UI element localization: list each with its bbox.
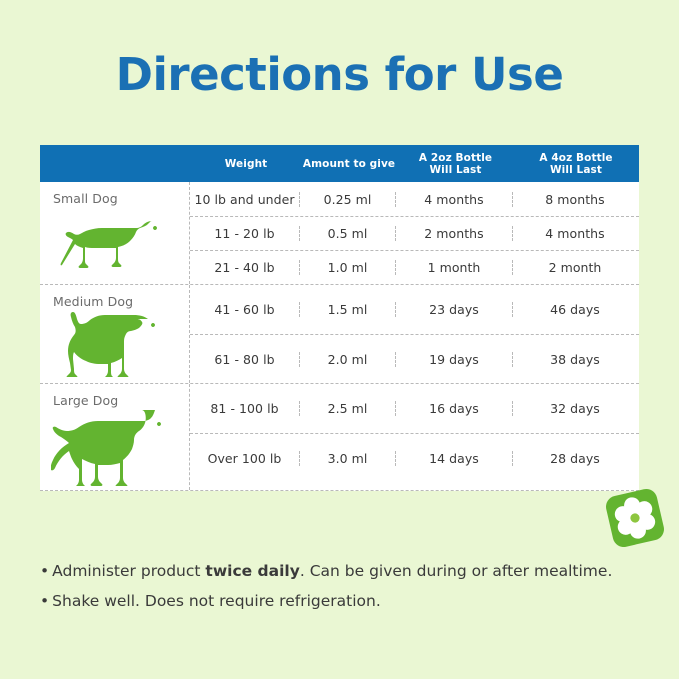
cell-2oz-duration: 2 months bbox=[396, 226, 513, 241]
cell-weight: 81 - 100 lb bbox=[190, 401, 300, 416]
cell-weight: 11 - 20 lb bbox=[190, 226, 300, 241]
note-1-text-part2: . Can be given during or after mealtime. bbox=[300, 562, 613, 580]
cell-4oz-duration: 2 month bbox=[513, 260, 637, 275]
table-group-small-dog: Small Dog 10 lb and under 0.25 ml 4 mont… bbox=[40, 182, 639, 284]
bullet-icon: • bbox=[40, 562, 49, 580]
beagle-silhouette-icon bbox=[40, 309, 189, 383]
dachshund-silhouette-icon bbox=[40, 206, 189, 284]
table-body: Small Dog 10 lb and under 0.25 ml 4 mont… bbox=[40, 182, 639, 491]
cell-2oz-duration: 1 month bbox=[396, 260, 513, 275]
cell-weight: 10 lb and under bbox=[190, 192, 300, 207]
cell-amount: 2.0 ml bbox=[300, 352, 396, 367]
flower-badge-logo bbox=[600, 483, 670, 553]
table-row: 81 - 100 lb 2.5 ml 16 days 32 days bbox=[190, 384, 639, 433]
table-row: 61 - 80 lb 2.0 ml 19 days 38 days bbox=[190, 334, 639, 383]
table-row: 11 - 20 lb 0.5 ml 2 months 4 months bbox=[190, 216, 639, 250]
table-header-4oz-line2: Will Last bbox=[514, 164, 638, 176]
group-breed-cell: Small Dog bbox=[40, 182, 190, 284]
group-rows-medium-dog: 41 - 60 lb 1.5 ml 23 days 46 days 61 - 8… bbox=[190, 285, 639, 383]
cell-weight: Over 100 lb bbox=[190, 451, 300, 466]
cell-4oz-duration: 46 days bbox=[513, 302, 637, 317]
cell-2oz-duration: 23 days bbox=[396, 302, 513, 317]
group-label-medium-dog: Medium Dog bbox=[40, 294, 189, 309]
table-row: 41 - 60 lb 1.5 ml 23 days 46 days bbox=[190, 285, 639, 334]
table-header-row: Weight Amount to give A 2oz Bottle Will … bbox=[40, 145, 639, 182]
directions-for-use-page: Directions for Use Weight Amount to give… bbox=[0, 0, 679, 679]
group-rows-large-dog: 81 - 100 lb 2.5 ml 16 days 32 days Over … bbox=[190, 384, 639, 490]
page-title: Directions for Use bbox=[0, 52, 679, 97]
cell-2oz-duration: 19 days bbox=[396, 352, 513, 367]
table-header-amount-to-give: Amount to give bbox=[301, 158, 397, 170]
group-label-small-dog: Small Dog bbox=[40, 191, 189, 206]
table-header-2oz-bottle: A 2oz Bottle Will Last bbox=[397, 152, 514, 176]
table-header-4oz-bottle: A 4oz Bottle Will Last bbox=[514, 152, 638, 176]
large-dog-silhouette-icon bbox=[40, 408, 189, 490]
cell-weight: 21 - 40 lb bbox=[190, 260, 300, 275]
cell-weight: 41 - 60 lb bbox=[190, 302, 300, 317]
group-rows-small-dog: 10 lb and under 0.25 ml 4 months 8 month… bbox=[190, 182, 639, 284]
flower-icon bbox=[604, 487, 666, 549]
cell-amount: 1.5 ml bbox=[300, 302, 396, 317]
cell-4oz-duration: 8 months bbox=[513, 192, 637, 207]
table-header-weight: Weight bbox=[191, 158, 301, 170]
cell-4oz-duration: 38 days bbox=[513, 352, 637, 367]
bullet-icon: • bbox=[40, 592, 49, 610]
table-header-2oz-line2: Will Last bbox=[397, 164, 514, 176]
note-item-2: •Shake well. Does not require refrigerat… bbox=[40, 586, 650, 616]
cell-weight: 61 - 80 lb bbox=[190, 352, 300, 367]
table-row: Over 100 lb 3.0 ml 14 days 28 days bbox=[190, 433, 639, 482]
note-2-text: Shake well. Does not require refrigerati… bbox=[52, 592, 381, 610]
note-1-text-part1: Administer product bbox=[52, 562, 205, 580]
cell-2oz-duration: 4 months bbox=[396, 192, 513, 207]
table-header-4oz-line1: A 4oz Bottle bbox=[514, 152, 638, 164]
table-bottom-border bbox=[40, 490, 639, 491]
table-group-large-dog: Large Dog 81 - 100 lb 2.5 ml 16 days 32 … bbox=[40, 383, 639, 490]
cell-4oz-duration: 4 months bbox=[513, 226, 637, 241]
dosage-table: Weight Amount to give A 2oz Bottle Will … bbox=[40, 145, 639, 491]
table-row: 21 - 40 lb 1.0 ml 1 month 2 month bbox=[190, 250, 639, 284]
note-1-emphasis: twice daily bbox=[205, 562, 299, 580]
cell-amount: 0.25 ml bbox=[300, 192, 396, 207]
table-header-2oz-line1: A 2oz Bottle bbox=[397, 152, 514, 164]
cell-4oz-duration: 32 days bbox=[513, 401, 637, 416]
cell-amount: 2.5 ml bbox=[300, 401, 396, 416]
cell-2oz-duration: 14 days bbox=[396, 451, 513, 466]
cell-amount: 3.0 ml bbox=[300, 451, 396, 466]
cell-2oz-duration: 16 days bbox=[396, 401, 513, 416]
table-row: 10 lb and under 0.25 ml 4 months 8 month… bbox=[190, 182, 639, 216]
table-group-medium-dog: Medium Dog 41 - 60 lb 1.5 ml 23 days 46 … bbox=[40, 284, 639, 383]
group-breed-cell: Large Dog bbox=[40, 384, 190, 490]
cell-4oz-duration: 28 days bbox=[513, 451, 637, 466]
notes-list: •Administer product twice daily. Can be … bbox=[40, 556, 650, 616]
group-label-large-dog: Large Dog bbox=[40, 393, 189, 408]
cell-amount: 1.0 ml bbox=[300, 260, 396, 275]
cell-amount: 0.5 ml bbox=[300, 226, 396, 241]
group-breed-cell: Medium Dog bbox=[40, 285, 190, 383]
note-item-1: •Administer product twice daily. Can be … bbox=[40, 556, 650, 586]
